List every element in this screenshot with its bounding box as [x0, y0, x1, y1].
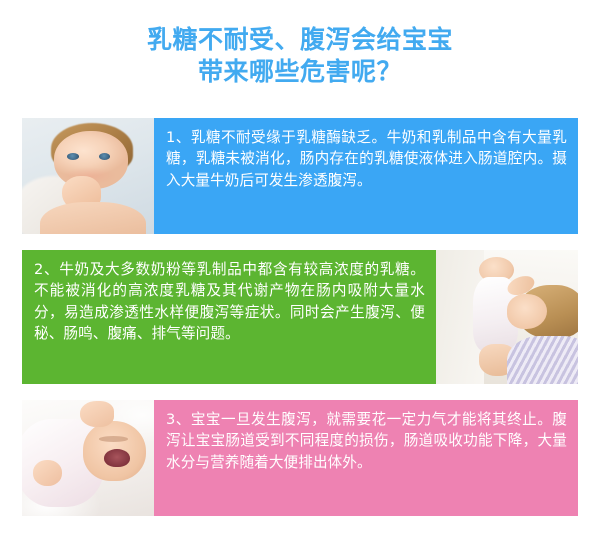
photo-brow-shape	[99, 436, 128, 442]
photo-body-shape	[40, 202, 146, 234]
info-panel-2: 2、牛奶及大多数奶粉等乳制品中都含有较高浓度的乳糖。不能被消化的高浓度乳糖及其代…	[22, 250, 578, 384]
page-title-line-2: 带来哪些危害呢？	[0, 56, 600, 88]
info-panel-1: 1、乳糖不耐受缘于乳糖酶缺乏。牛奶和乳制品中含有大量乳糖，乳糖未被消化，肠内存在…	[22, 118, 578, 234]
baby-finger-in-mouth-photo	[22, 118, 154, 234]
photo-arm-shape	[80, 401, 114, 427]
photo-fist-shape	[33, 460, 62, 486]
photo-right-eye-shape	[99, 153, 111, 160]
photo-open-mouth-shape	[104, 449, 130, 468]
info-panel-3: 3、宝宝一旦发生腹泻，就需要花一定力气才能将其终止。腹泻让宝宝肠道受到不同程度的…	[22, 400, 578, 516]
crying-baby-photo	[22, 400, 154, 516]
infographic-root: 乳糖不耐受、腹泻会给宝宝 带来哪些危害呢？ 1、乳糖不耐受缘于乳糖酶缺乏。牛奶和…	[0, 0, 600, 536]
page-title: 乳糖不耐受、腹泻会给宝宝 带来哪些危害呢？	[0, 24, 600, 88]
mother-lifting-baby-photo	[436, 250, 578, 384]
page-title-line-1: 乳糖不耐受、腹泻会给宝宝	[0, 24, 600, 56]
info-panel-3-text: 3、宝宝一旦发生腹泻，就需要花一定力气才能将其终止。腹泻让宝宝肠道受到不同程度的…	[154, 400, 578, 516]
info-panel-1-text: 1、乳糖不耐受缘于乳糖酶缺乏。牛奶和乳制品中含有大量乳糖，乳糖未被消化，肠内存在…	[154, 118, 578, 234]
photo-mother-body-shape	[507, 336, 578, 384]
photo-mother-face-shape	[507, 294, 547, 329]
photo-left-eye-shape	[67, 153, 79, 160]
info-panel-2-text: 2、牛奶及大多数奶粉等乳制品中都含有较高浓度的乳糖。不能被消化的高浓度乳糖及其代…	[22, 250, 436, 384]
